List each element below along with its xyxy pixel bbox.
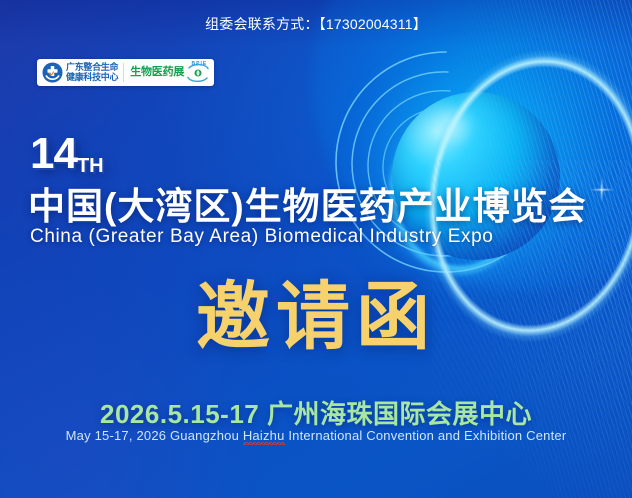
organizer-logo-primary: 广东整合生命 健康科技中心 bbox=[42, 62, 123, 83]
event-date-venue-chinese: 2026.5.15-17 广州海珠国际会展中心 bbox=[0, 394, 632, 431]
edition-number-ordinal: TH bbox=[77, 155, 104, 177]
edition-number: 14TH bbox=[30, 132, 104, 176]
invitation-headline: 邀请函 bbox=[0, 280, 632, 354]
poster-content: 组委会联系方式：【17302004311】 广东整合生命 健康科技中心 bbox=[0, 0, 632, 498]
organizer-logo-line2: 健康科技中心 bbox=[66, 73, 118, 82]
event-date-venue-english-suffix: International Convention and Exhibition … bbox=[285, 428, 567, 443]
organizer-contact-bar: 组委会联系方式：【17302004311】 bbox=[0, 14, 632, 34]
organizer-logo-strip: 广东整合生命 健康科技中心 BPIE 生物医药展 bbox=[37, 59, 214, 86]
organizer-logo-secondary-en: BPIE bbox=[192, 61, 208, 67]
organizer-logo-secondary-text: 生物医药展 bbox=[130, 67, 184, 78]
organizer-logo-secondary: BPIE 生物医药展 bbox=[124, 62, 209, 83]
invitation-poster: 组委会联系方式：【17302004311】 广东整合生命 健康科技中心 bbox=[0, 0, 632, 498]
medical-cross-icon bbox=[42, 62, 63, 83]
expo-title-english: China (Greater Bay Area) Biomedical Indu… bbox=[30, 226, 493, 248]
event-date-venue-english: May 15-17, 2026 Guangzhou Haizhu Interna… bbox=[0, 428, 632, 443]
edition-number-value: 14 bbox=[30, 129, 77, 178]
event-date-venue-english-prefix: May 15-17, 2026 Guangzhou bbox=[66, 428, 243, 443]
expo-title-chinese: 中国(大湾区)生物医药产业博览会 bbox=[28, 176, 587, 230]
organizer-logo-primary-text: 广东整合生命 健康科技中心 bbox=[66, 63, 118, 82]
spellcheck-flagged-word: Haizhu bbox=[243, 428, 285, 445]
